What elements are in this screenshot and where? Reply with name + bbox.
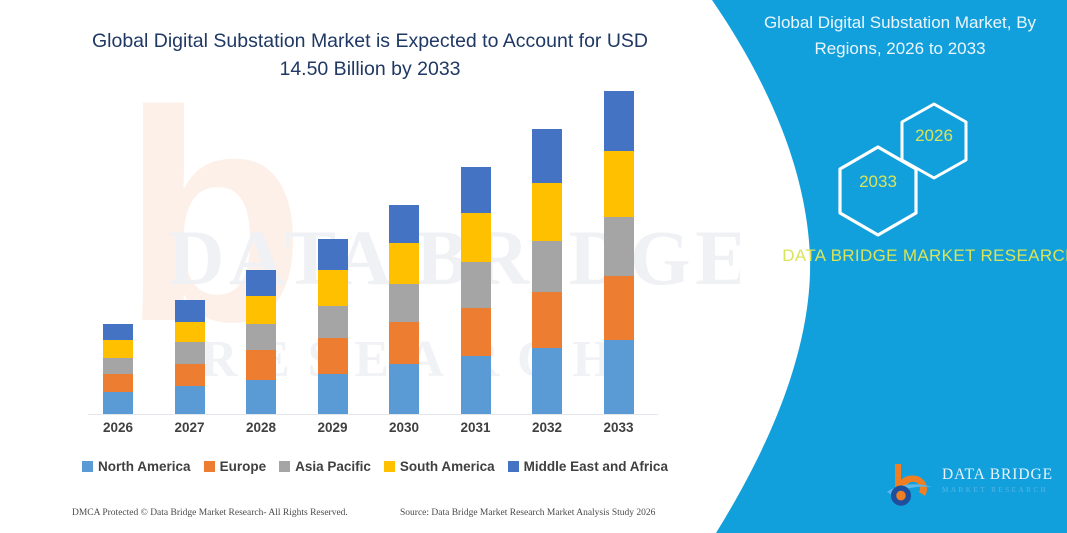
- legend-label: North America: [98, 459, 191, 474]
- legend-label: Europe: [220, 459, 267, 474]
- bar-segment: [246, 270, 276, 296]
- x-axis-label-2031: 2031: [446, 420, 506, 435]
- bar-segment: [461, 262, 491, 308]
- bar-segment: [604, 217, 634, 277]
- footer-source: Source: Data Bridge Market Research Mark…: [400, 508, 655, 518]
- hex-badge-2026: 2026: [893, 100, 975, 187]
- x-axis-label-2027: 2027: [160, 420, 220, 435]
- bar-segment: [318, 306, 348, 338]
- bar-segment: [246, 380, 276, 414]
- bar-segment: [175, 322, 205, 342]
- stacked-bar-chart: [70, 120, 670, 415]
- bar-segment: [604, 91, 634, 151]
- bar-2032[interactable]: [532, 129, 562, 414]
- bar-segment: [389, 322, 419, 364]
- legend-item[interactable]: Asia Pacific: [279, 459, 371, 474]
- hex-badge-2026-label: 2026: [893, 126, 975, 146]
- bar-segment: [318, 338, 348, 374]
- legend-label: South America: [400, 459, 495, 474]
- bar-2030[interactable]: [389, 205, 419, 414]
- bar-segment: [103, 324, 133, 340]
- bar-segment: [532, 348, 562, 414]
- bar-segment: [318, 374, 348, 414]
- chart-title: Global Digital Substation Market is Expe…: [70, 27, 670, 83]
- bar-segment: [461, 213, 491, 263]
- bar-segment: [604, 151, 634, 217]
- data-bridge-logo: DATA BRIDGE MARKET RESEARCH: [884, 462, 1064, 510]
- bar-2027[interactable]: [175, 300, 205, 414]
- chart-legend: North AmericaEuropeAsia PacificSouth Ame…: [70, 455, 680, 477]
- x-axis-line: [88, 414, 658, 415]
- legend-swatch-icon: [384, 461, 395, 472]
- bar-segment: [604, 276, 634, 340]
- bar-segment: [532, 241, 562, 293]
- bar-segment: [461, 308, 491, 356]
- bar-2031[interactable]: [461, 167, 491, 414]
- bar-segment: [103, 358, 133, 374]
- data-bridge-logo-text: DATA BRIDGE MARKET RESEARCH: [942, 466, 1064, 494]
- x-axis-label-2028: 2028: [231, 420, 291, 435]
- legend-item[interactable]: Middle East and Africa: [508, 459, 668, 474]
- footer: DMCA Protected © Data Bridge Market Rese…: [0, 508, 720, 528]
- bar-segment: [175, 386, 205, 414]
- bar-segment: [389, 364, 419, 414]
- legend-swatch-icon: [508, 461, 519, 472]
- legend-swatch-icon: [82, 461, 93, 472]
- x-axis-label-2026: 2026: [88, 420, 148, 435]
- bar-segment: [318, 239, 348, 271]
- bar-segment: [532, 129, 562, 183]
- legend-label: Middle East and Africa: [524, 459, 668, 474]
- x-axis-label-2032: 2032: [517, 420, 577, 435]
- bar-2026[interactable]: [103, 324, 133, 414]
- legend-swatch-icon: [279, 461, 290, 472]
- legend-swatch-icon: [204, 461, 215, 472]
- infographic-canvas: b DATA BRIDGE RESEARCH Global Digital Su…: [0, 0, 1067, 533]
- logo-subtitle: MARKET RESEARCH: [942, 486, 1064, 494]
- legend-item[interactable]: North America: [82, 459, 191, 474]
- x-axis-label-2033: 2033: [589, 420, 649, 435]
- bar-segment: [246, 324, 276, 350]
- bar-segment: [175, 342, 205, 364]
- bar-segment: [103, 374, 133, 392]
- bar-segment: [461, 167, 491, 213]
- bar-segment: [389, 284, 419, 322]
- data-bridge-logo-icon: [884, 462, 938, 508]
- footer-copyright: DMCA Protected © Data Bridge Market Rese…: [72, 508, 348, 518]
- brand-wordmark: DATA BRIDGE MARKET RESEARCH: [780, 243, 1067, 269]
- logo-name: DATA BRIDGE: [942, 466, 1064, 484]
- bar-segment: [532, 292, 562, 348]
- legend-item[interactable]: South America: [384, 459, 495, 474]
- legend-item[interactable]: Europe: [204, 459, 267, 474]
- bar-segment: [175, 300, 205, 322]
- bar-segment: [175, 364, 205, 386]
- x-axis-label-2030: 2030: [374, 420, 434, 435]
- bar-segment: [103, 392, 133, 414]
- bar-segment: [532, 183, 562, 241]
- panel-title: Global Digital Substation Market, By Reg…: [745, 10, 1055, 62]
- bar-2033[interactable]: [604, 91, 634, 414]
- bar-segment: [246, 350, 276, 380]
- bar-segment: [389, 243, 419, 285]
- bar-segment: [246, 296, 276, 324]
- bar-2028[interactable]: [246, 270, 276, 414]
- bar-segment: [389, 205, 419, 243]
- bar-segment: [318, 270, 348, 306]
- bar-segment: [103, 340, 133, 358]
- legend-label: Asia Pacific: [295, 459, 371, 474]
- x-axis-labels: 20262027202820292030203120322033: [70, 420, 670, 442]
- bar-segment: [604, 340, 634, 414]
- x-axis-label-2029: 2029: [303, 420, 363, 435]
- bar-2029[interactable]: [318, 239, 348, 414]
- bar-segment: [461, 356, 491, 414]
